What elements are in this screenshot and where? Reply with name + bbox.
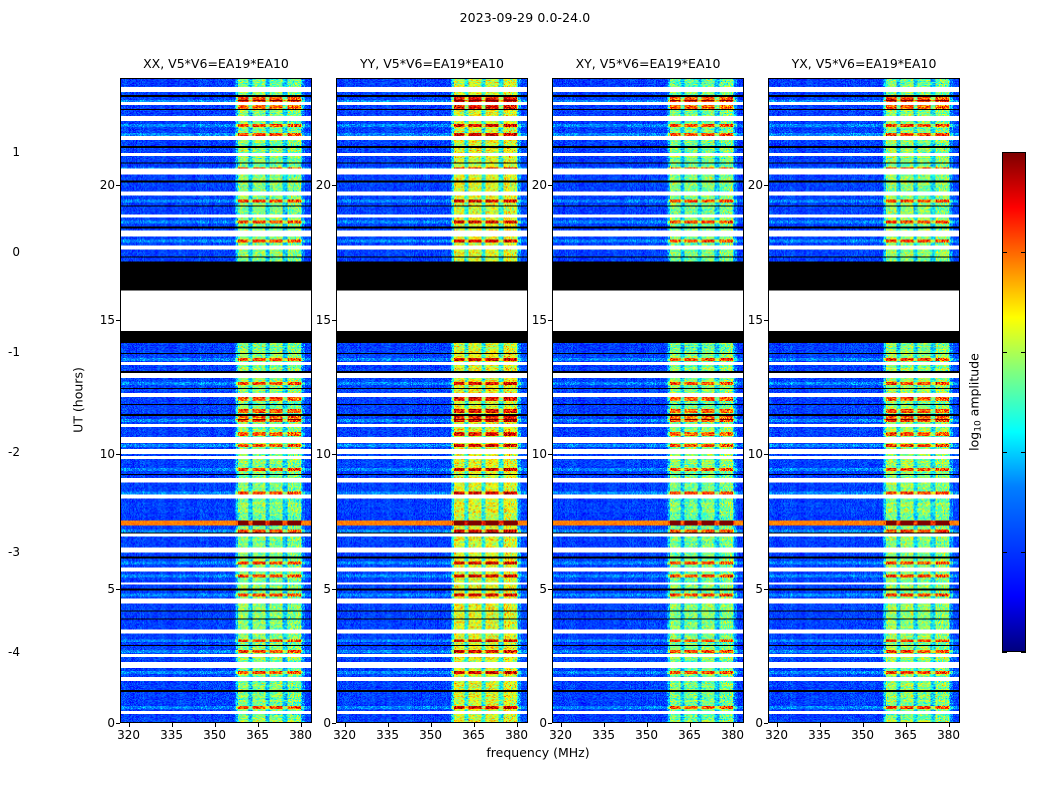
x-tick-mark — [172, 723, 173, 727]
y-tick-label-20: 20 — [100, 178, 115, 192]
waterfall-panel-xy[interactable] — [552, 78, 744, 723]
y-tick-label-p2-20: 20 — [316, 178, 331, 192]
x-tick-label-p1-380: 380 — [289, 728, 312, 742]
x-tick-mark — [129, 723, 130, 727]
x-tick-mark — [474, 723, 475, 727]
colorbar-tick-mark — [1002, 652, 1007, 653]
y-tick-label-p3-10: 10 — [532, 447, 547, 461]
y-tick-mark — [764, 454, 768, 455]
x-tick-label-p4-320: 320 — [765, 728, 788, 742]
x-tick-mark — [777, 723, 778, 727]
y-tick-label-10: 10 — [100, 447, 115, 461]
y-tick-mark — [764, 185, 768, 186]
y-tick-label-5: 5 — [107, 582, 115, 596]
x-tick-mark — [258, 723, 259, 727]
y-tick-mark — [116, 454, 120, 455]
y-tick-mark — [548, 320, 552, 321]
x-tick-label-p3-365: 365 — [678, 728, 701, 742]
y-tick-label-p4-10: 10 — [748, 447, 763, 461]
x-tick-label-p1-335: 335 — [160, 728, 183, 742]
waterfall-panel-yx[interactable] — [768, 78, 960, 723]
x-tick-mark — [345, 723, 346, 727]
y-tick-mark — [332, 723, 336, 724]
x-tick-label-p2-350: 350 — [419, 728, 442, 742]
x-tick-mark — [906, 723, 907, 727]
x-tick-label-p2-365: 365 — [462, 728, 485, 742]
colorbar-tick-label--2: -2 — [8, 445, 20, 459]
x-tick-label-p4-350: 350 — [851, 728, 874, 742]
colorbar-gradient — [1003, 153, 1025, 651]
y-tick-mark — [332, 320, 336, 321]
colorbar-tick-mark — [1002, 252, 1007, 253]
x-tick-label-p2-320: 320 — [333, 728, 356, 742]
x-tick-label-p3-320: 320 — [549, 728, 572, 742]
waterfall-image-xy — [553, 79, 743, 722]
y-tick-mark — [332, 454, 336, 455]
x-tick-mark — [517, 723, 518, 727]
colorbar-tick-label-0: 0 — [12, 245, 20, 259]
y-tick-mark — [116, 589, 120, 590]
colorbar-tick-mark-right — [1021, 552, 1026, 553]
y-tick-mark — [548, 454, 552, 455]
y-tick-label-p3-5: 5 — [539, 582, 547, 596]
colorbar-tick-label--1: -1 — [8, 345, 20, 359]
y-tick-mark — [116, 723, 120, 724]
x-tick-mark — [733, 723, 734, 727]
x-tick-label-p4-335: 335 — [808, 728, 831, 742]
y-axis-label: UT (hours) — [71, 367, 86, 433]
y-tick-label-p2-10: 10 — [316, 447, 331, 461]
colorbar-tick-mark — [1002, 352, 1007, 353]
waterfall-panel-xx[interactable] — [120, 78, 312, 723]
y-tick-label-15: 15 — [100, 313, 115, 327]
y-tick-label-p3-15: 15 — [532, 313, 547, 327]
y-tick-mark — [548, 723, 552, 724]
x-tick-label-p1-350: 350 — [203, 728, 226, 742]
x-tick-mark — [561, 723, 562, 727]
panel-title-yy: YY, V5*V6=EA19*EA10 — [336, 56, 528, 71]
y-tick-label-p2-15: 15 — [316, 313, 331, 327]
y-tick-mark — [764, 320, 768, 321]
waterfall-panel-yy[interactable] — [336, 78, 528, 723]
colorbar — [1002, 152, 1026, 652]
colorbar-tick-mark — [1002, 552, 1007, 553]
x-tick-label-p2-380: 380 — [505, 728, 528, 742]
x-tick-mark — [215, 723, 216, 727]
y-tick-label-p2-5: 5 — [323, 582, 331, 596]
colorbar-tick-label-1: 1 — [12, 145, 20, 159]
x-tick-mark — [301, 723, 302, 727]
y-tick-mark — [764, 723, 768, 724]
x-tick-label-p3-350: 350 — [635, 728, 658, 742]
y-tick-label-0: 0 — [107, 716, 115, 730]
figure-title: 2023-09-29 0.0-24.0 — [0, 10, 1050, 25]
x-tick-mark — [690, 723, 691, 727]
x-tick-mark — [431, 723, 432, 727]
y-tick-label-p4-0: 0 — [755, 716, 763, 730]
x-tick-mark — [388, 723, 389, 727]
colorbar-tick-mark-right — [1021, 452, 1026, 453]
waterfall-image-xx — [121, 79, 311, 722]
y-tick-mark — [764, 589, 768, 590]
x-tick-mark — [647, 723, 648, 727]
x-tick-label-p1-320: 320 — [117, 728, 140, 742]
x-tick-label-p2-335: 335 — [376, 728, 399, 742]
colorbar-tick-mark-right — [1021, 152, 1026, 153]
colorbar-tick-label--4: -4 — [8, 645, 20, 659]
colorbar-tick-mark-right — [1021, 352, 1026, 353]
y-tick-mark — [332, 589, 336, 590]
y-tick-label-p3-20: 20 — [532, 178, 547, 192]
y-tick-mark — [332, 185, 336, 186]
x-tick-label-p1-365: 365 — [246, 728, 269, 742]
x-tick-mark — [604, 723, 605, 727]
colorbar-label: log10 amplitude — [967, 353, 984, 451]
x-tick-mark — [863, 723, 864, 727]
colorbar-tick-mark — [1002, 452, 1007, 453]
y-tick-mark — [548, 589, 552, 590]
y-tick-label-p4-15: 15 — [748, 313, 763, 327]
y-tick-mark — [548, 185, 552, 186]
panel-title-xy: XY, V5*V6=EA19*EA10 — [552, 56, 744, 71]
x-tick-mark — [949, 723, 950, 727]
panel-title-yx: YX, V5*V6=EA19*EA10 — [768, 56, 960, 71]
x-tick-label-p4-380: 380 — [937, 728, 960, 742]
colorbar-tick-mark-right — [1021, 252, 1026, 253]
y-tick-label-p4-20: 20 — [748, 178, 763, 192]
colorbar-tick-mark — [1002, 152, 1007, 153]
y-tick-label-p3-0: 0 — [539, 716, 547, 730]
waterfall-image-yy — [337, 79, 527, 722]
y-tick-label-p4-5: 5 — [755, 582, 763, 596]
y-tick-label-p2-0: 0 — [323, 716, 331, 730]
y-tick-mark — [116, 185, 120, 186]
panel-title-xx: XX, V5*V6=EA19*EA10 — [120, 56, 312, 71]
y-tick-mark — [116, 320, 120, 321]
colorbar-tick-mark-right — [1021, 652, 1026, 653]
x-tick-label-p4-365: 365 — [894, 728, 917, 742]
x-axis-label: frequency (MHz) — [118, 745, 958, 760]
colorbar-tick-label--3: -3 — [8, 545, 20, 559]
x-tick-label-p3-380: 380 — [721, 728, 744, 742]
x-tick-mark — [820, 723, 821, 727]
waterfall-image-yx — [769, 79, 959, 722]
x-tick-label-p3-335: 335 — [592, 728, 615, 742]
